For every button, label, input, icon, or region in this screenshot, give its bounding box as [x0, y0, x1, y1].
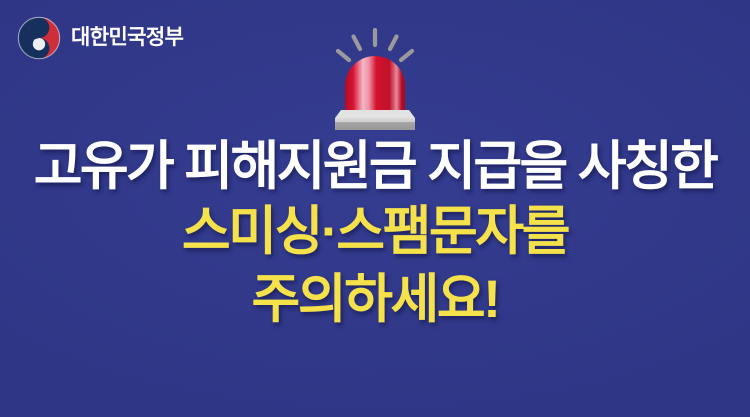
- headline-block: 고유가 피해지원금 지급을 사칭한 스미싱·스팸문자를 주의하세요!: [0, 140, 750, 326]
- public-notice-banner: 대한민국정부: [0, 0, 750, 417]
- siren-light-rays: [338, 30, 412, 60]
- headline-line-3: 주의하세요!: [0, 273, 750, 326]
- korean-government-taegeuk-emblem-icon: [17, 16, 61, 60]
- headline-line-2: 스미싱·스팸문자를: [0, 205, 750, 258]
- government-branding-lockup: 대한민국정부: [17, 16, 183, 60]
- headline-line-1: 고유가 피해지원금 지급을 사칭한: [0, 140, 750, 193]
- emergency-siren-icon: [319, 28, 431, 132]
- government-wordmark: 대한민국정부: [71, 27, 183, 49]
